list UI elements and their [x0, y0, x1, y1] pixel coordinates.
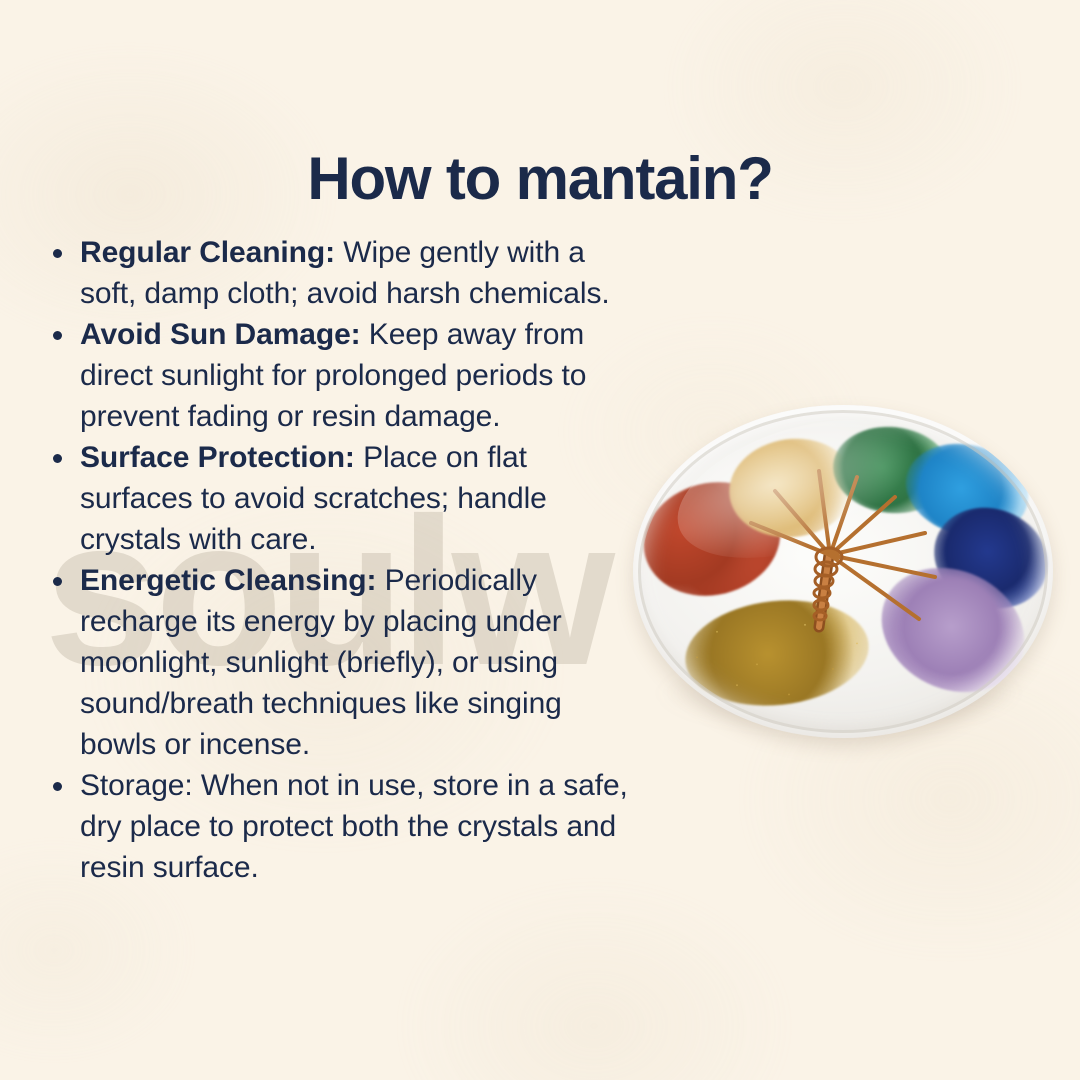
page-title: How to mantain?: [0, 144, 1080, 213]
maintenance-tips-list: Regular Cleaning: Wipe gently with a sof…: [44, 232, 634, 888]
tip-label: Avoid Sun Damage:: [80, 318, 361, 351]
list-item: Energetic Cleansing: Periodically rechar…: [44, 560, 634, 765]
product-photo: [633, 405, 1053, 738]
tip-label: Surface Protection:: [80, 441, 355, 474]
tip-label: Storage:: [80, 769, 193, 802]
tip-label: Energetic Cleansing:: [80, 564, 376, 597]
disc-glass-rim: [633, 405, 1053, 738]
list-item: Surface Protection: Place on flat surfac…: [44, 437, 634, 560]
list-item: Avoid Sun Damage: Keep away from direct …: [44, 314, 634, 437]
list-item: Storage: When not in use, store in a saf…: [44, 765, 634, 888]
list-item: Regular Cleaning: Wipe gently with a sof…: [44, 232, 634, 314]
poster-canvas: soulw How to mantain? Regular Cleaning: …: [0, 0, 1080, 1080]
tip-label: Regular Cleaning:: [80, 236, 335, 269]
